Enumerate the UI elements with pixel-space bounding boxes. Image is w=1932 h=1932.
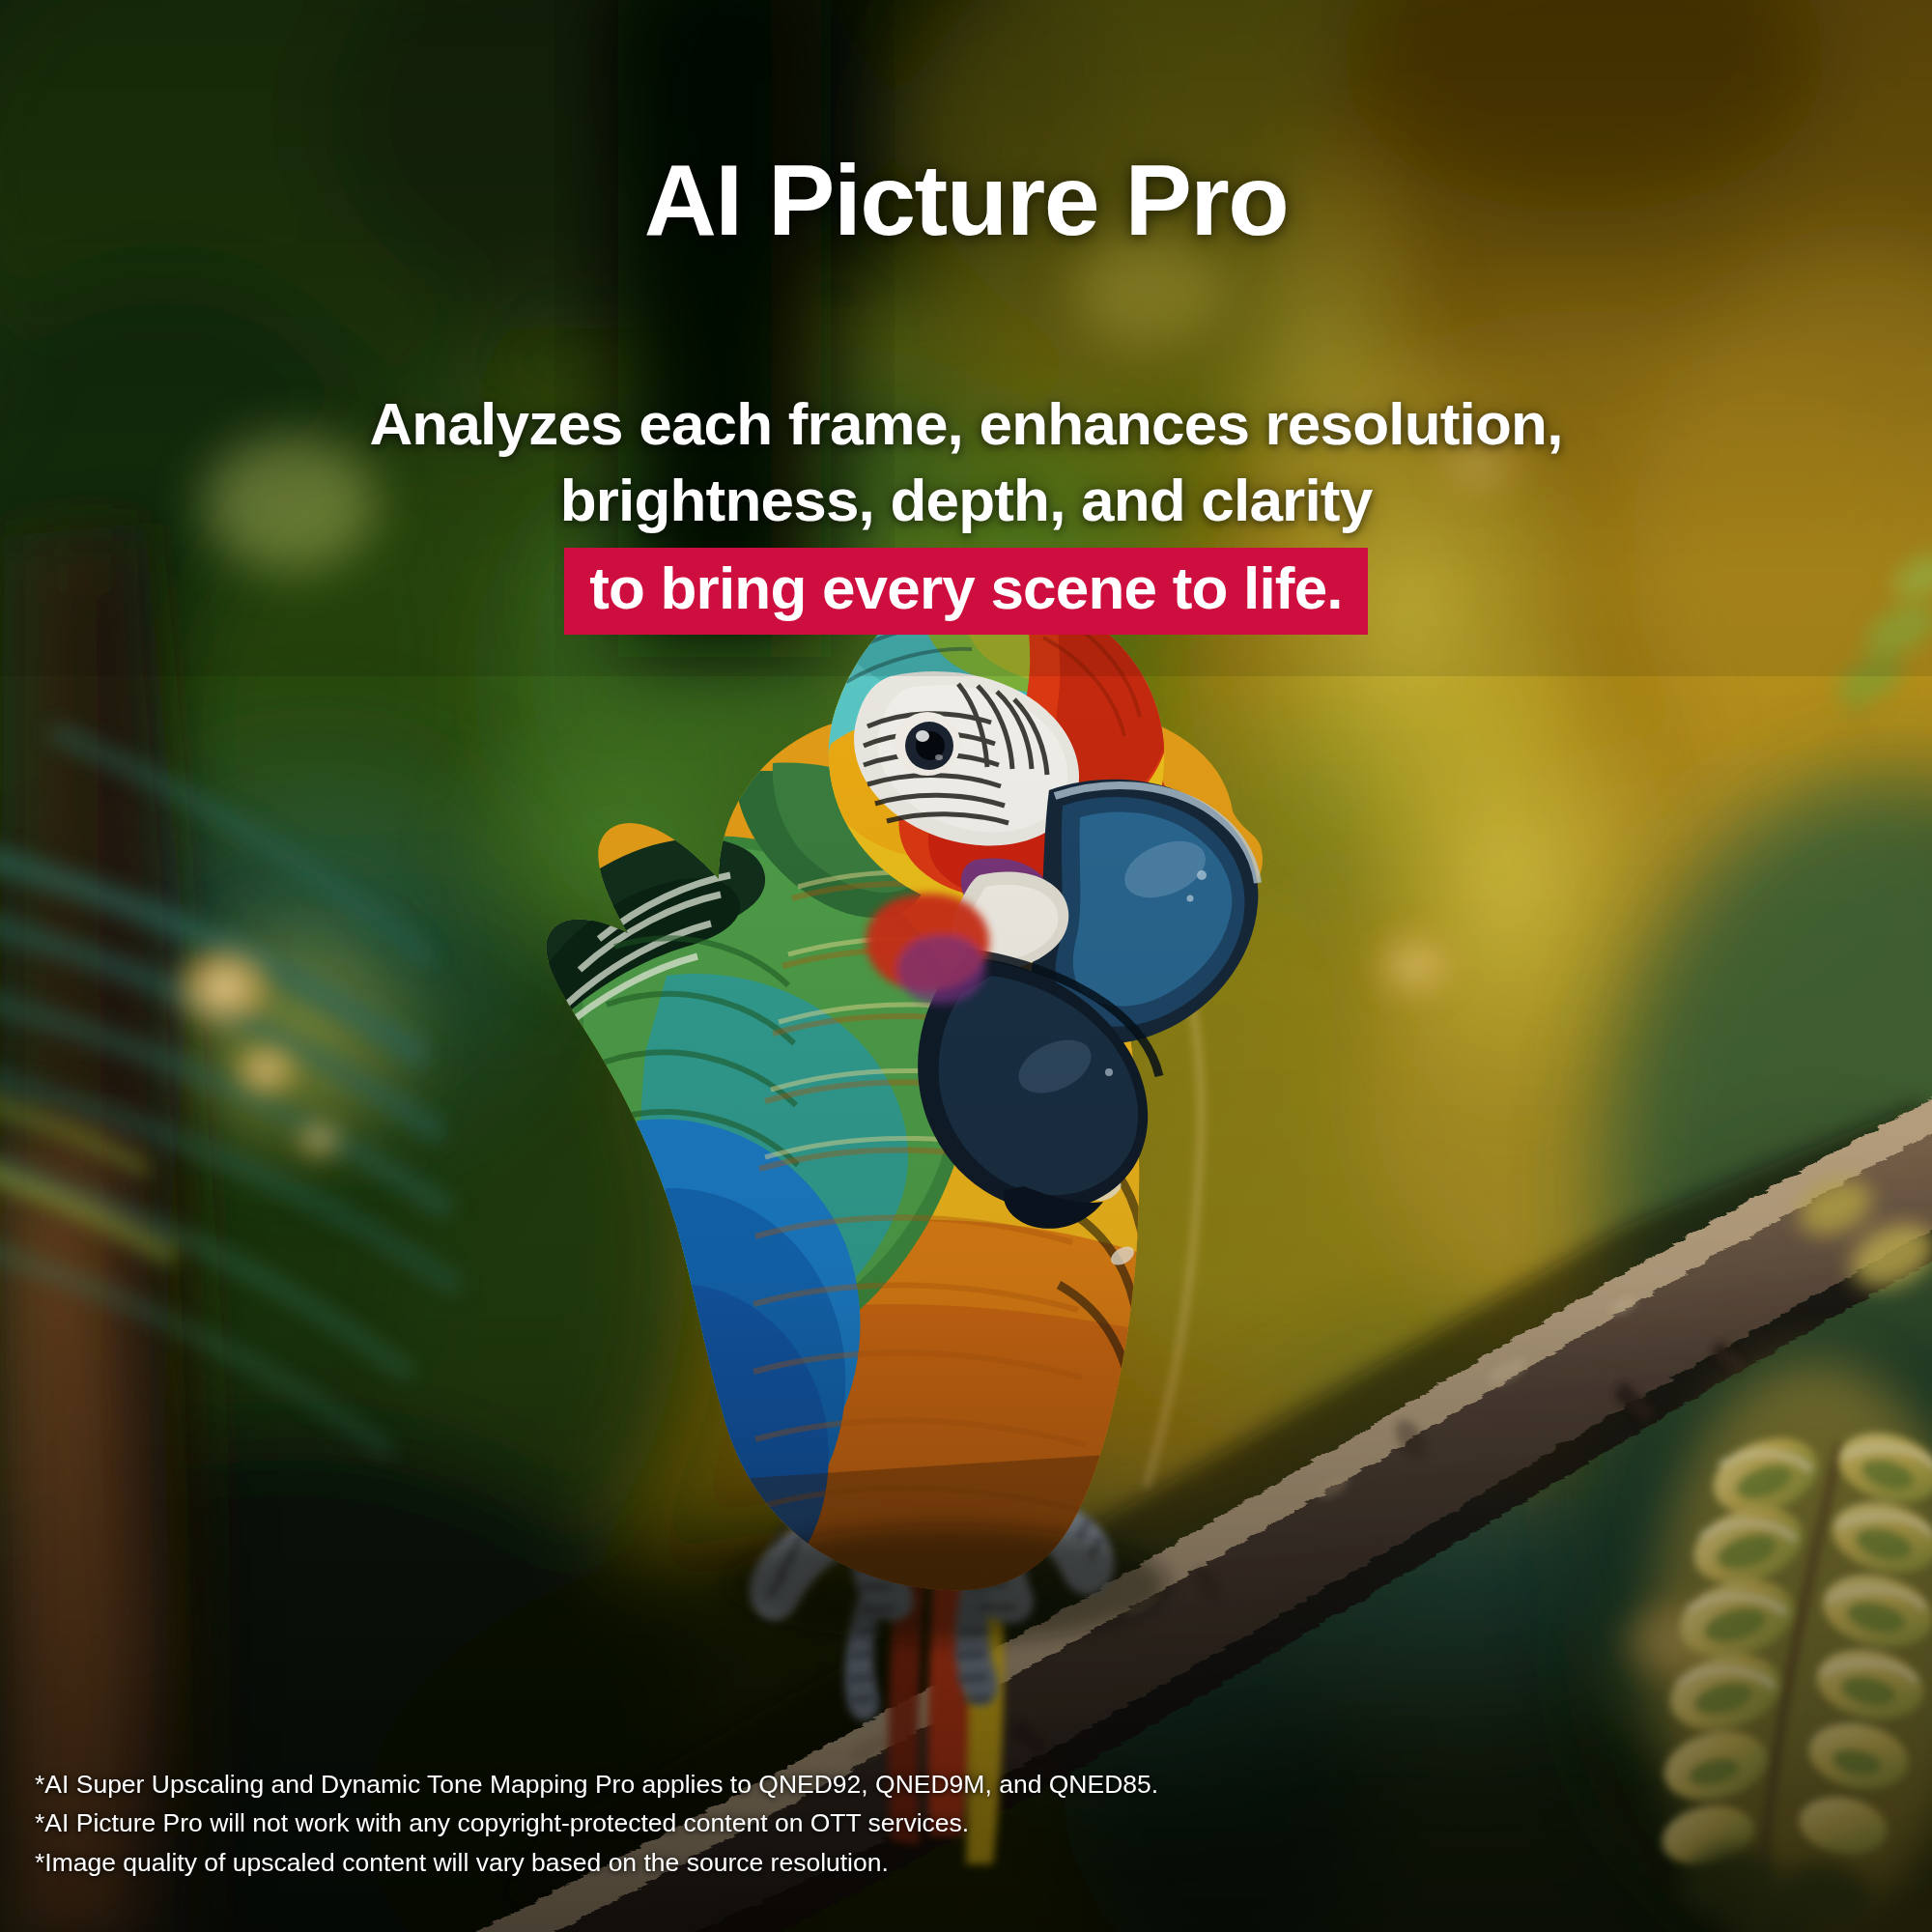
slide-canvas: AI Picture Pro Analyzes each frame, enha… xyxy=(0,0,1932,1932)
footnote-block: *AI Super Upscaling and Dynamic Tone Map… xyxy=(35,1765,1158,1882)
subheadline-block: Analyzes each frame, enhances resolution… xyxy=(0,386,1932,635)
footnote-line-1: *AI Super Upscaling and Dynamic Tone Map… xyxy=(35,1765,1158,1804)
footnote-line-2: *AI Picture Pro will not work with any c… xyxy=(35,1804,1158,1842)
page-title: AI Picture Pro xyxy=(0,147,1932,253)
subheadline-highlight-row: to bring every scene to life. xyxy=(0,548,1932,635)
highlight-banner: to bring every scene to life. xyxy=(564,548,1368,635)
subheadline-line-2: brightness, depth, and clarity xyxy=(0,463,1932,539)
text-overlay: AI Picture Pro Analyzes each frame, enha… xyxy=(0,0,1932,1932)
subheadline-line-1: Analyzes each frame, enhances resolution… xyxy=(0,386,1932,463)
footnote-line-3: *Image quality of upscaled content will … xyxy=(35,1843,1158,1882)
